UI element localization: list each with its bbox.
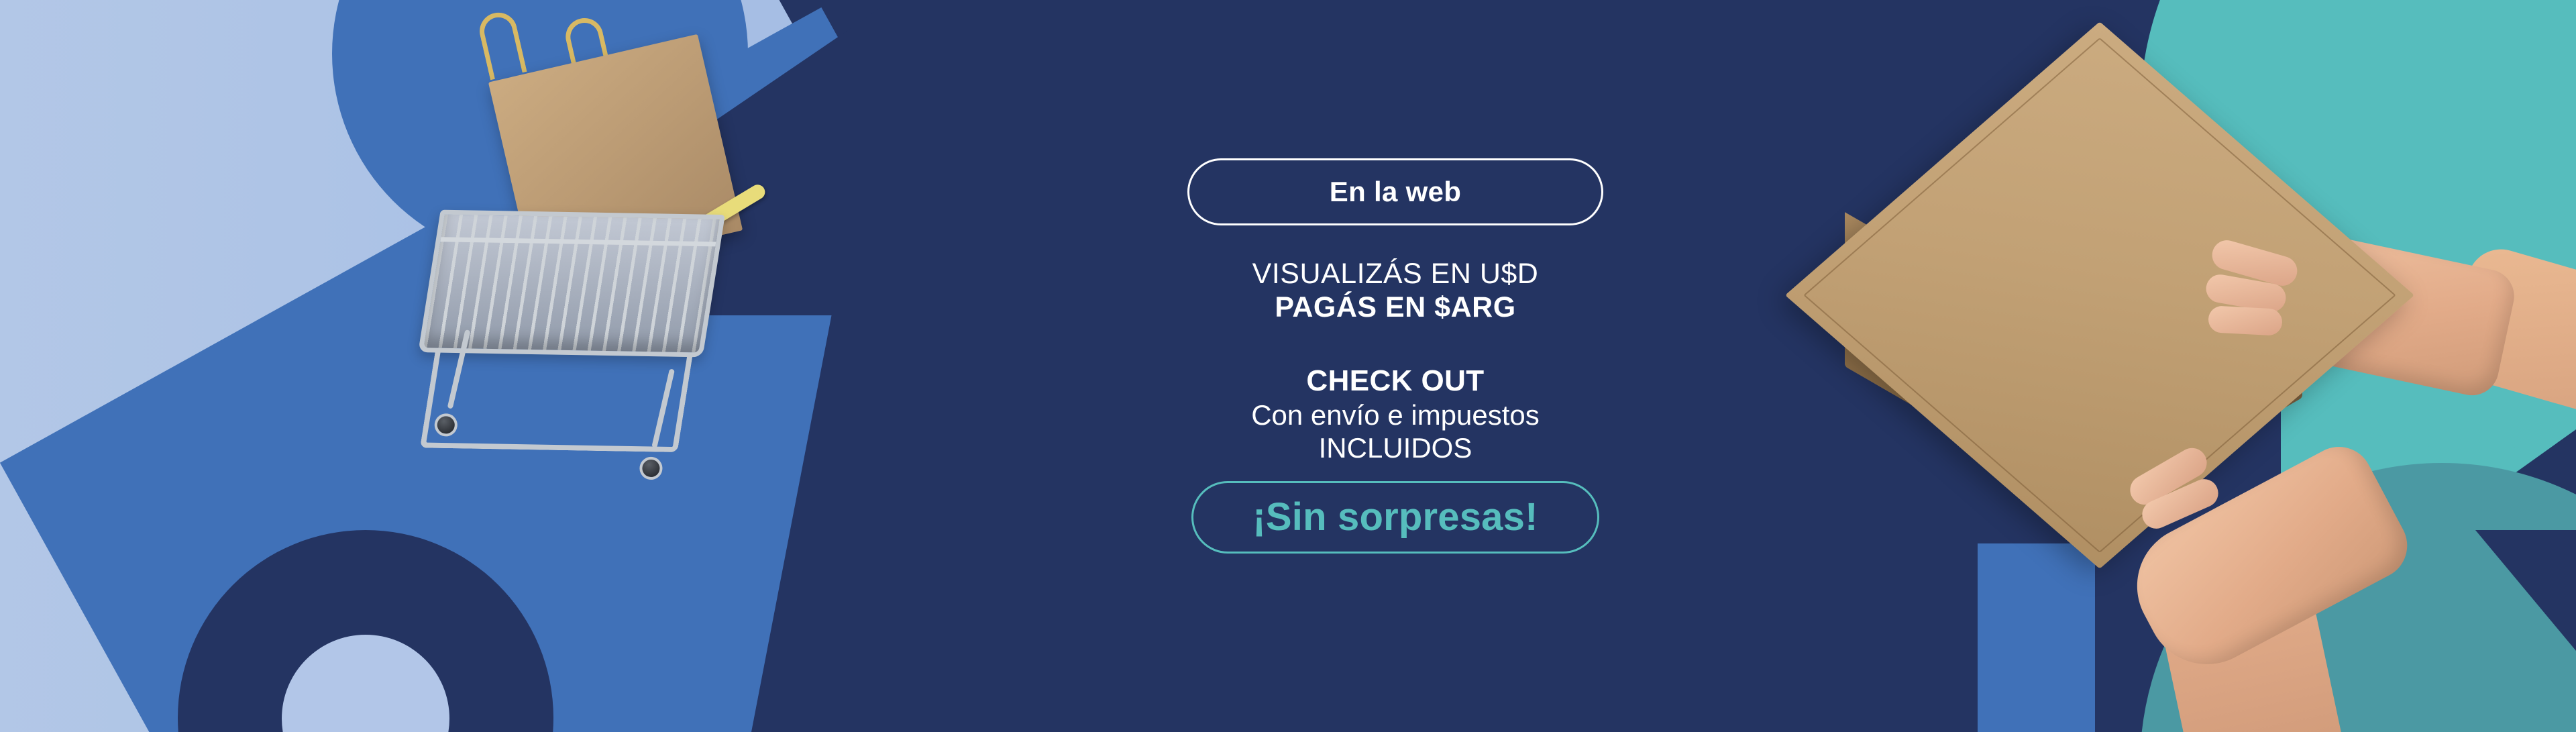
upper-finger-3-icon xyxy=(2208,305,2283,336)
shopping-cart-icon xyxy=(368,54,813,577)
cart-wheel-back-icon xyxy=(638,456,664,482)
checkout-line-included: INCLUIDOS xyxy=(1251,431,1540,465)
rate-line-arg: PAGÁS EN $ARG xyxy=(1252,291,1539,325)
checkout-line-shipping: Con envío e impuestos xyxy=(1251,399,1540,432)
rate-line-usd: VISUALIZÁS EN U$D xyxy=(1252,258,1539,291)
checkout-title: CHECK OUT xyxy=(1251,364,1540,399)
package-delivery-icon xyxy=(1811,27,2482,698)
sin-sorpresas-button[interactable]: ¡Sin sorpresas! xyxy=(1191,481,1599,554)
en-la-web-button[interactable]: En la web xyxy=(1187,158,1603,225)
center-content: En la web VISUALIZÁS EN U$D PAGÁS EN $AR… xyxy=(1127,0,1664,732)
promo-banner: En la web VISUALIZÁS EN U$D PAGÁS EN $AR… xyxy=(0,0,2576,732)
checkout-info-block: CHECK OUT Con envío e impuestos INCLUIDO… xyxy=(1251,364,1540,465)
rate-info-block: VISUALIZÁS EN U$D PAGÁS EN $ARG xyxy=(1252,258,1539,325)
